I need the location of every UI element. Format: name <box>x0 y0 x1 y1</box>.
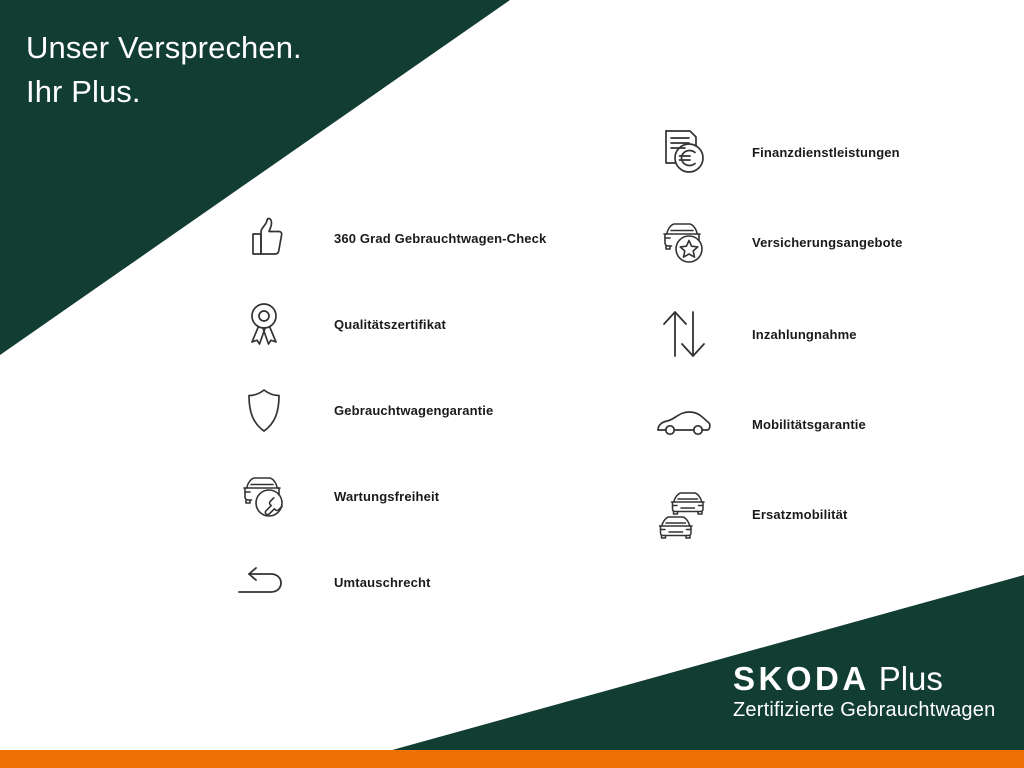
feature-label: Wartungsfreiheit <box>334 489 439 504</box>
feature-label: Gebrauchtwagengarantie <box>334 403 493 418</box>
logo-subtitle: Zertifizierte Gebrauchtwagen <box>733 700 995 720</box>
award-rosette-icon <box>232 292 296 356</box>
feature-item: Inzahlungnahme <box>652 302 857 366</box>
feature-item: Wartungsfreiheit <box>232 464 439 528</box>
orange-accent-bar <box>0 750 1024 768</box>
car-wrench-icon <box>232 464 296 528</box>
feature-item: Mobilitätsgarantie <box>652 392 866 456</box>
logo-main-line: SKODAPlus <box>733 662 995 695</box>
feature-label: Umtauschrecht <box>334 575 431 590</box>
brand-logo: SKODAPlus Zertifizierte Gebrauchtwagen <box>733 662 995 720</box>
logo-suffix: Plus <box>879 660 943 697</box>
shield-icon <box>232 378 296 442</box>
feature-label: Versicherungsangebote <box>752 235 903 250</box>
feature-label: Ersatzmobilität <box>752 507 847 522</box>
u-turn-arrow-icon <box>232 550 296 614</box>
two-cars-icon <box>652 482 716 546</box>
feature-label: Inzahlungnahme <box>752 327 857 342</box>
feature-item: Umtauschrecht <box>232 550 431 614</box>
page-title: Unser Versprechen. Ihr Plus. <box>26 26 302 114</box>
logo-brand-name: SKODA <box>733 660 870 697</box>
feature-item: Finanzdienstleistungen <box>652 120 900 184</box>
promo-graphic: Unser Versprechen. Ihr Plus. 360 Grad Ge… <box>0 0 1024 768</box>
car-star-icon <box>652 210 716 274</box>
feature-item: Gebrauchtwagengarantie <box>232 378 493 442</box>
feature-label: 360 Grad Gebrauchtwagen-Check <box>334 231 546 246</box>
thumbs-up-icon <box>232 206 296 270</box>
headline-line-1: Unser Versprechen. <box>26 30 302 65</box>
feature-item: Versicherungsangebote <box>652 210 903 274</box>
feature-label: Mobilitätsgarantie <box>752 417 866 432</box>
feature-item: Qualitätszertifikat <box>232 292 446 356</box>
feature-item: 360 Grad Gebrauchtwagen-Check <box>232 206 546 270</box>
car-side-icon <box>652 392 716 456</box>
feature-label: Qualitätszertifikat <box>334 317 446 332</box>
up-down-arrows-icon <box>652 302 716 366</box>
green-diagonal-bottom <box>0 560 1024 752</box>
feature-label: Finanzdienstleistungen <box>752 145 900 160</box>
headline-line-2: Ihr Plus. <box>26 74 141 109</box>
document-euro-icon <box>652 120 716 184</box>
feature-item: Ersatzmobilität <box>652 482 847 546</box>
